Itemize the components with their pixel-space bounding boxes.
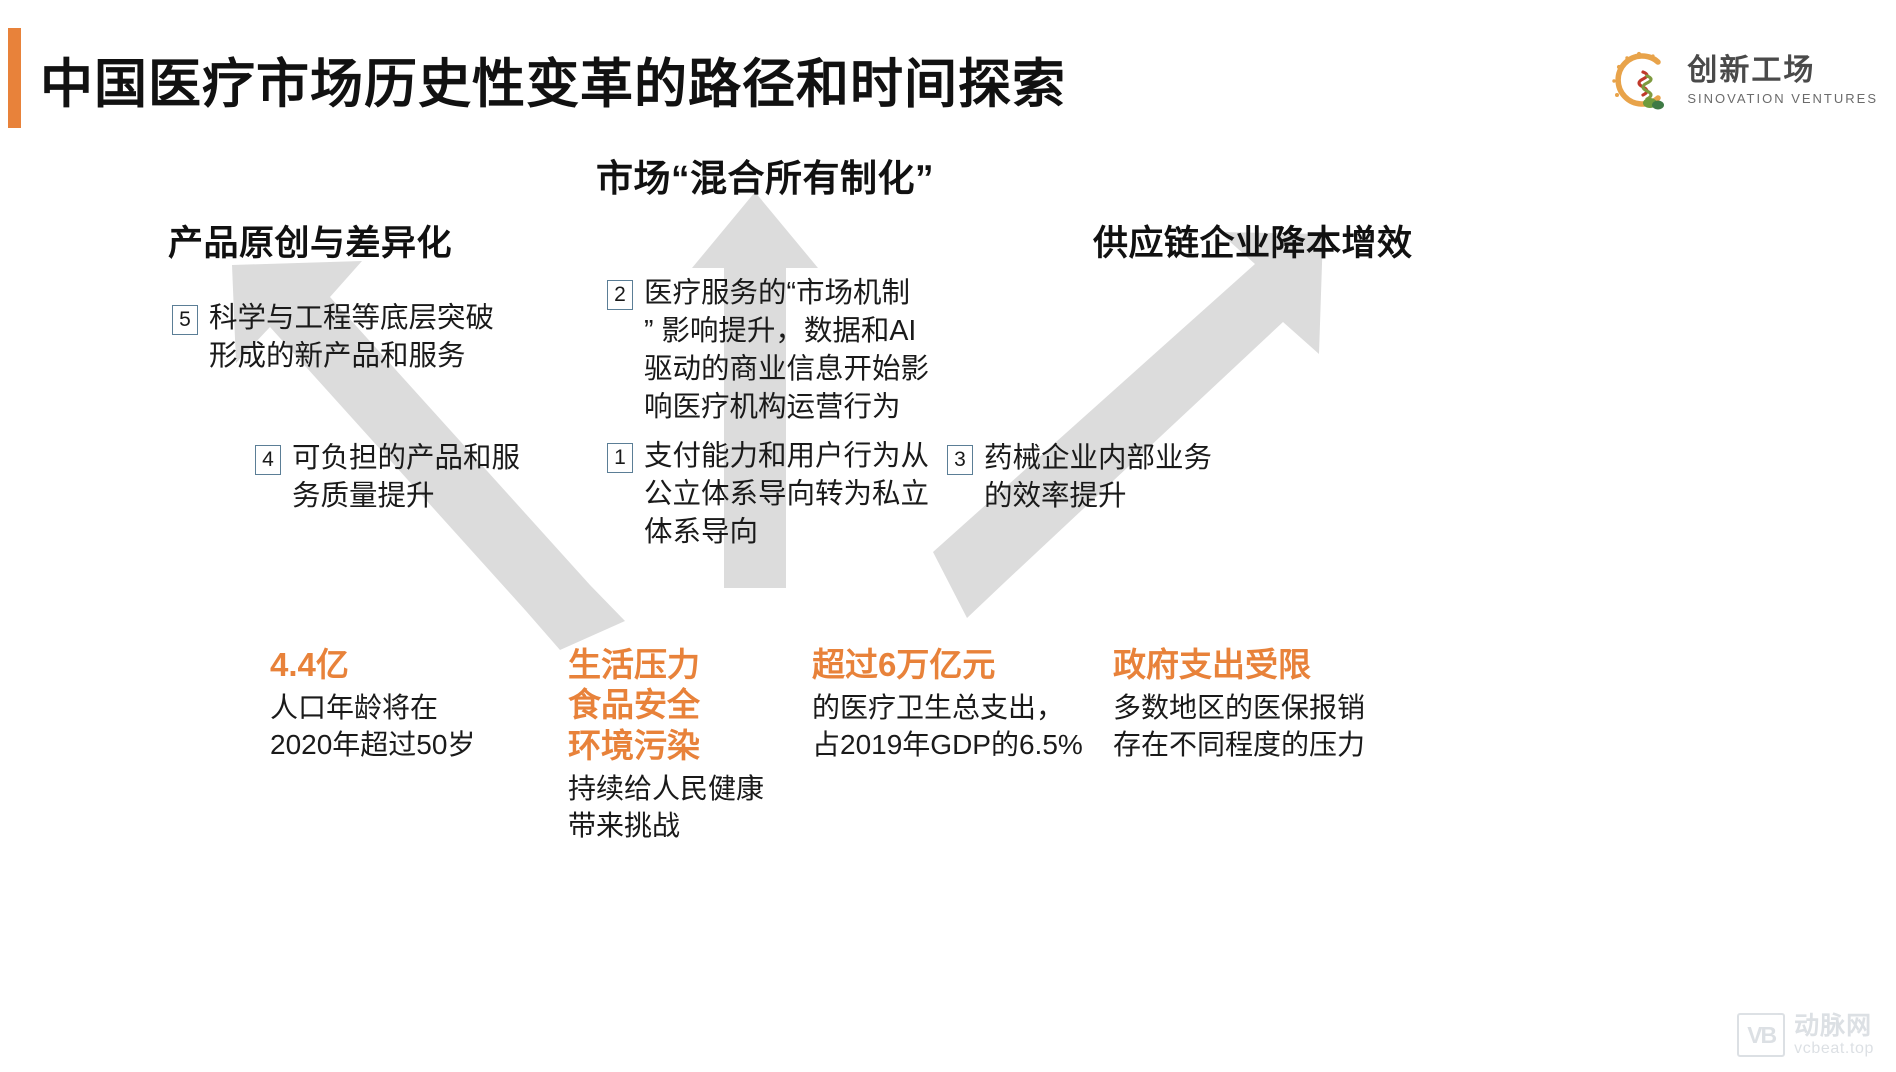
stat-body: 持续给人民健康 带来挑战 xyxy=(568,771,888,845)
stat-body: 多数地区的医保报销 存在不同程度的压力 xyxy=(1113,690,1463,764)
stat-headline: 超过6万亿元 xyxy=(812,645,1162,685)
stat-body: 的医疗卫生总支出， 占2019年GDP的6.5% xyxy=(812,690,1162,764)
column-header-right: 供应链企业降本增效 xyxy=(1093,215,1413,266)
watermark: VB 动脉网 vcbeat.top xyxy=(1737,1013,1874,1058)
list-item: 5 科学与工程等底层突破 形成的新产品和服务 xyxy=(172,300,592,376)
stat-block: 超过6万亿元 的医疗卫生总支出， 占2019年GDP的6.5% xyxy=(812,645,1162,764)
lightbulb-c-icon xyxy=(1603,45,1677,115)
logo-text: 创新工场 SINOVATION VENTURES xyxy=(1687,56,1878,105)
stat-block: 政府支出受限 多数地区的医保报销 存在不同程度的压力 xyxy=(1113,645,1463,764)
logo-name-cn: 创新工场 xyxy=(1687,56,1878,86)
item-text: 可负担的产品和服 务质量提升 xyxy=(292,440,520,516)
brand-logo: 创新工场 SINOVATION VENTURES xyxy=(1603,42,1878,118)
list-item: 2 医疗服务的“市场机制 ” 影响提升，数据和AI 驱动的商业信息开始影 响医疗… xyxy=(607,275,1007,427)
item-number-badge: 5 xyxy=(172,305,198,335)
item-number-badge: 1 xyxy=(607,443,633,473)
watermark-url: vcbeat.top xyxy=(1794,1041,1874,1058)
title-accent-bar xyxy=(8,28,21,128)
stat-body: 人口年龄将在 2020年超过50岁 xyxy=(270,690,600,764)
column-header-left: 产品原创与差异化 xyxy=(168,215,452,266)
watermark-text: 动脉网 vcbeat.top xyxy=(1794,1013,1874,1058)
item-text: 药械企业内部业务 的效率提升 xyxy=(984,440,1212,516)
list-item: 3 药械企业内部业务 的效率提升 xyxy=(947,440,1347,516)
stat-headline: 政府支出受限 xyxy=(1113,645,1463,685)
item-number-badge: 3 xyxy=(947,445,973,475)
watermark-badge: VB xyxy=(1737,1013,1785,1057)
item-text: 医疗服务的“市场机制 ” 影响提升，数据和AI 驱动的商业信息开始影 响医疗机构… xyxy=(644,275,929,427)
logo-name-en: SINOVATION VENTURES xyxy=(1687,92,1878,105)
stat-block: 4.4亿 人口年龄将在 2020年超过50岁 xyxy=(270,645,600,764)
page-title: 中国医疗市场历史性变革的路径和时间探索 xyxy=(40,42,1066,118)
item-text: 支付能力和用户行为从 公立体系导向转为私立 体系导向 xyxy=(644,438,929,552)
list-item: 4 可负担的产品和服 务质量提升 xyxy=(255,440,655,516)
stat-headline: 4.4亿 xyxy=(270,645,600,685)
watermark-name: 动脉网 xyxy=(1794,1013,1874,1039)
item-text: 科学与工程等底层突破 形成的新产品和服务 xyxy=(209,300,494,376)
item-number-badge: 4 xyxy=(255,445,281,475)
column-header-center: 市场“混合所有制化” xyxy=(596,148,934,202)
item-number-badge: 2 xyxy=(607,280,633,310)
